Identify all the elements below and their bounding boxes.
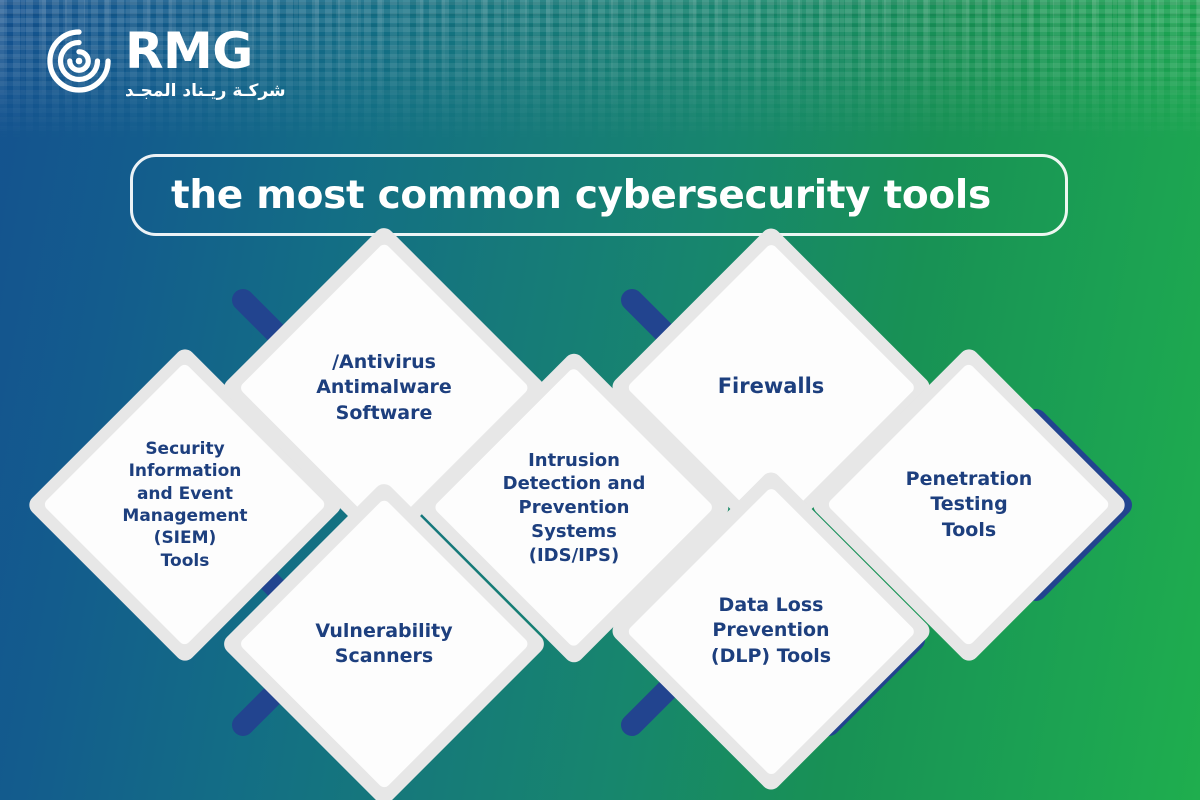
diagram-node-label: Firewalls (683, 373, 859, 401)
diagram-node-penetration-testing[interactable]: Penetration Testing Tools (856, 392, 1082, 618)
diagram-node-label: Intrusion Detection and Prevention Syste… (493, 449, 655, 568)
diagram-node-label: Security Information and Event Managemen… (106, 438, 264, 573)
diagram-node-label: /Antivirus Antimalware Software (299, 350, 469, 425)
diagram-node-label: Vulnerability Scanners (298, 619, 470, 669)
infographic-canvas: RMG شركـة ريـناد المجـد the most common … (0, 0, 1200, 800)
diagram-node-dlp[interactable]: Data Loss Prevention (DLP) Tools (656, 516, 886, 746)
diagram-node-label: Data Loss Prevention (DLP) Tools (687, 593, 855, 668)
diagram-node-label: Penetration Testing Tools (885, 467, 1053, 542)
